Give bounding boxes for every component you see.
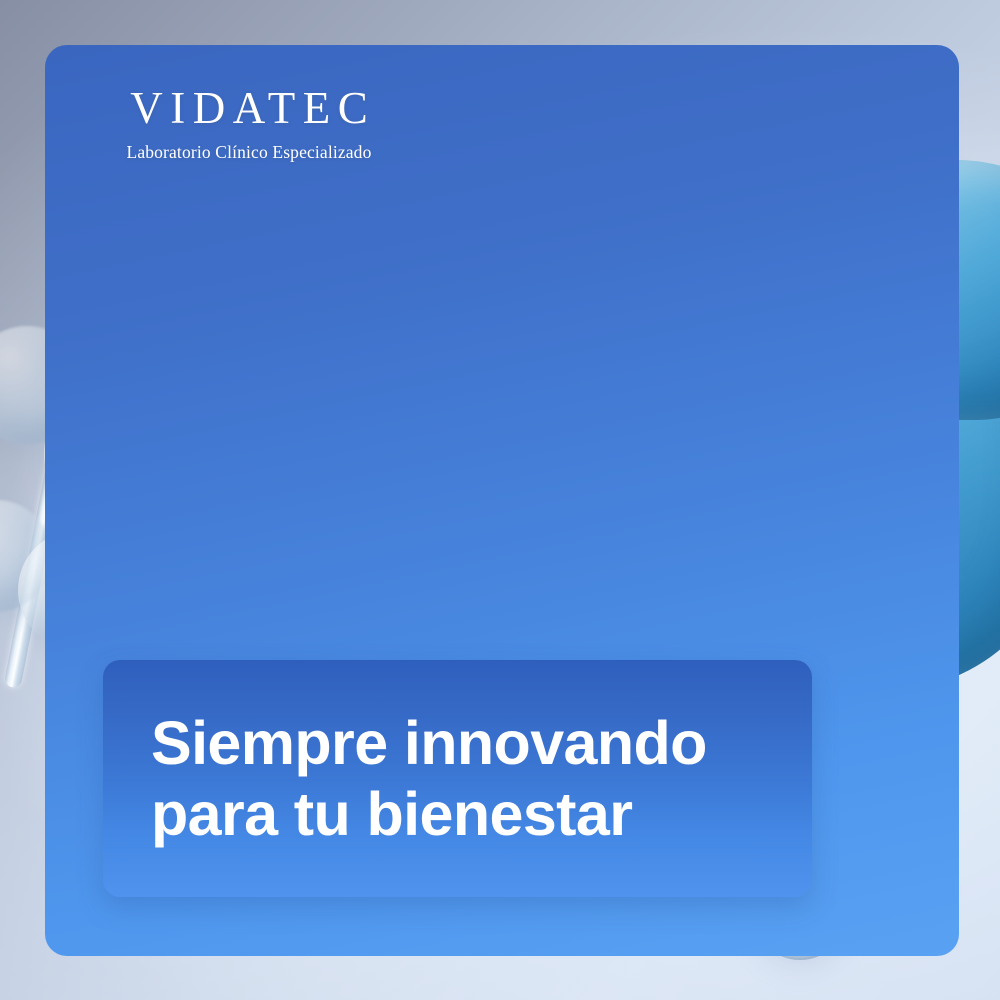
- gloved-hand-graphic: [480, 120, 1000, 740]
- brand-tagline: Laboratorio Clínico Especializado: [99, 144, 399, 162]
- brand-logo: VIDATEC Laboratorio Clínico Especializad…: [99, 86, 399, 162]
- headline-line-2: para tu bienestar: [103, 779, 812, 849]
- test-tube-rim-inner: [756, 98, 844, 114]
- promotional-banner-canvas: VIDATEC Laboratorio Clínico Especializad…: [0, 0, 1000, 1000]
- headline-banner: Siempre innovando para tu bienestar: [103, 660, 812, 897]
- headline-line-1: Siempre innovando: [103, 708, 812, 778]
- brand-name: VIDATEC: [99, 86, 399, 131]
